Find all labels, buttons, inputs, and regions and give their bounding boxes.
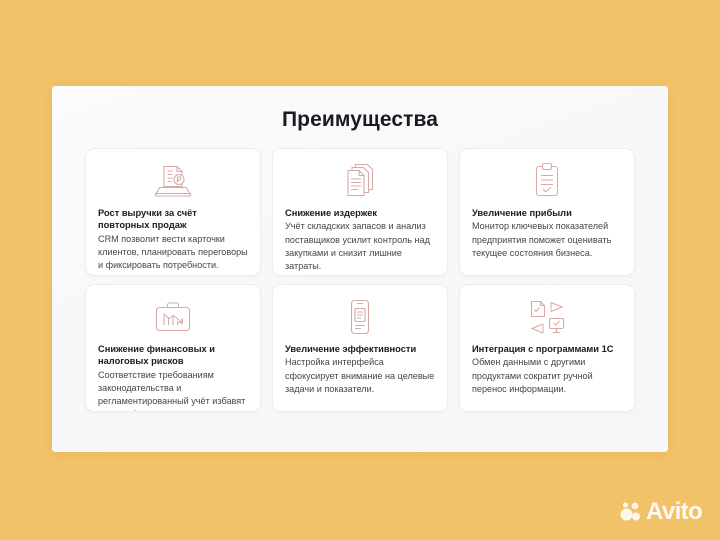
laptop-document-ruble-icon xyxy=(98,159,248,203)
avito-logo-mark xyxy=(620,501,642,523)
advantage-card-description: Соответствие требованиям законодательств… xyxy=(98,369,248,412)
advantage-card[interactable]: Увеличение прибыли Монитор ключевых пока… xyxy=(459,148,635,276)
advantage-card-description: Настройка интерфейса сфокусирует внимани… xyxy=(285,356,435,396)
advantage-card-title: Снижение финансовых и налоговых рисков xyxy=(98,343,248,368)
advantage-card-title: Увеличение эффективности xyxy=(285,343,435,355)
screenshot-root: Преимущества Рост выручки за счёт повтор xyxy=(0,0,720,540)
advantage-card[interactable]: Интеграция с программами 1С Обмен данным… xyxy=(459,284,635,412)
advantage-card-title: Снижение издержек xyxy=(285,207,435,219)
advantage-card-description: CRM позволит вести карточки клиентов, пл… xyxy=(98,233,248,273)
briefcase-declining-chart-icon xyxy=(98,295,248,339)
advantage-card-description: Учёт складских запасов и анализ поставщи… xyxy=(285,220,435,273)
page-title: Преимущества xyxy=(52,86,668,132)
advantage-card[interactable]: Увеличение эффективности Настройка интер… xyxy=(272,284,448,412)
smartphone-interface-icon xyxy=(285,295,435,339)
avito-logo-text: Avito xyxy=(646,500,702,524)
advantages-panel: Преимущества Рост выручки за счёт повтор xyxy=(52,86,668,452)
advantage-card-title: Рост выручки за счёт повторных продаж xyxy=(98,207,248,232)
advantage-card-title: Увеличение прибыли xyxy=(472,207,622,219)
advantage-card-description: Обмен данными с другими продуктами сокра… xyxy=(472,356,622,396)
advantage-card[interactable]: Рост выручки за счёт повторных продаж CR… xyxy=(85,148,261,276)
advantage-card[interactable]: Снижение издержек Учёт складских запасов… xyxy=(272,148,448,276)
advantage-card-description: Монитор ключевых показателей предприятия… xyxy=(472,220,622,260)
documents-stack-icon xyxy=(285,159,435,203)
avito-watermark: Avito xyxy=(620,500,702,524)
clipboard-checklist-icon xyxy=(472,159,622,203)
advantages-card-grid: Рост выручки за счёт повторных продаж CR… xyxy=(85,148,635,412)
data-exchange-sync-icon xyxy=(472,295,622,339)
advantage-card[interactable]: Снижение финансовых и налоговых рисков С… xyxy=(85,284,261,412)
advantage-card-title: Интеграция с программами 1С xyxy=(472,343,622,355)
